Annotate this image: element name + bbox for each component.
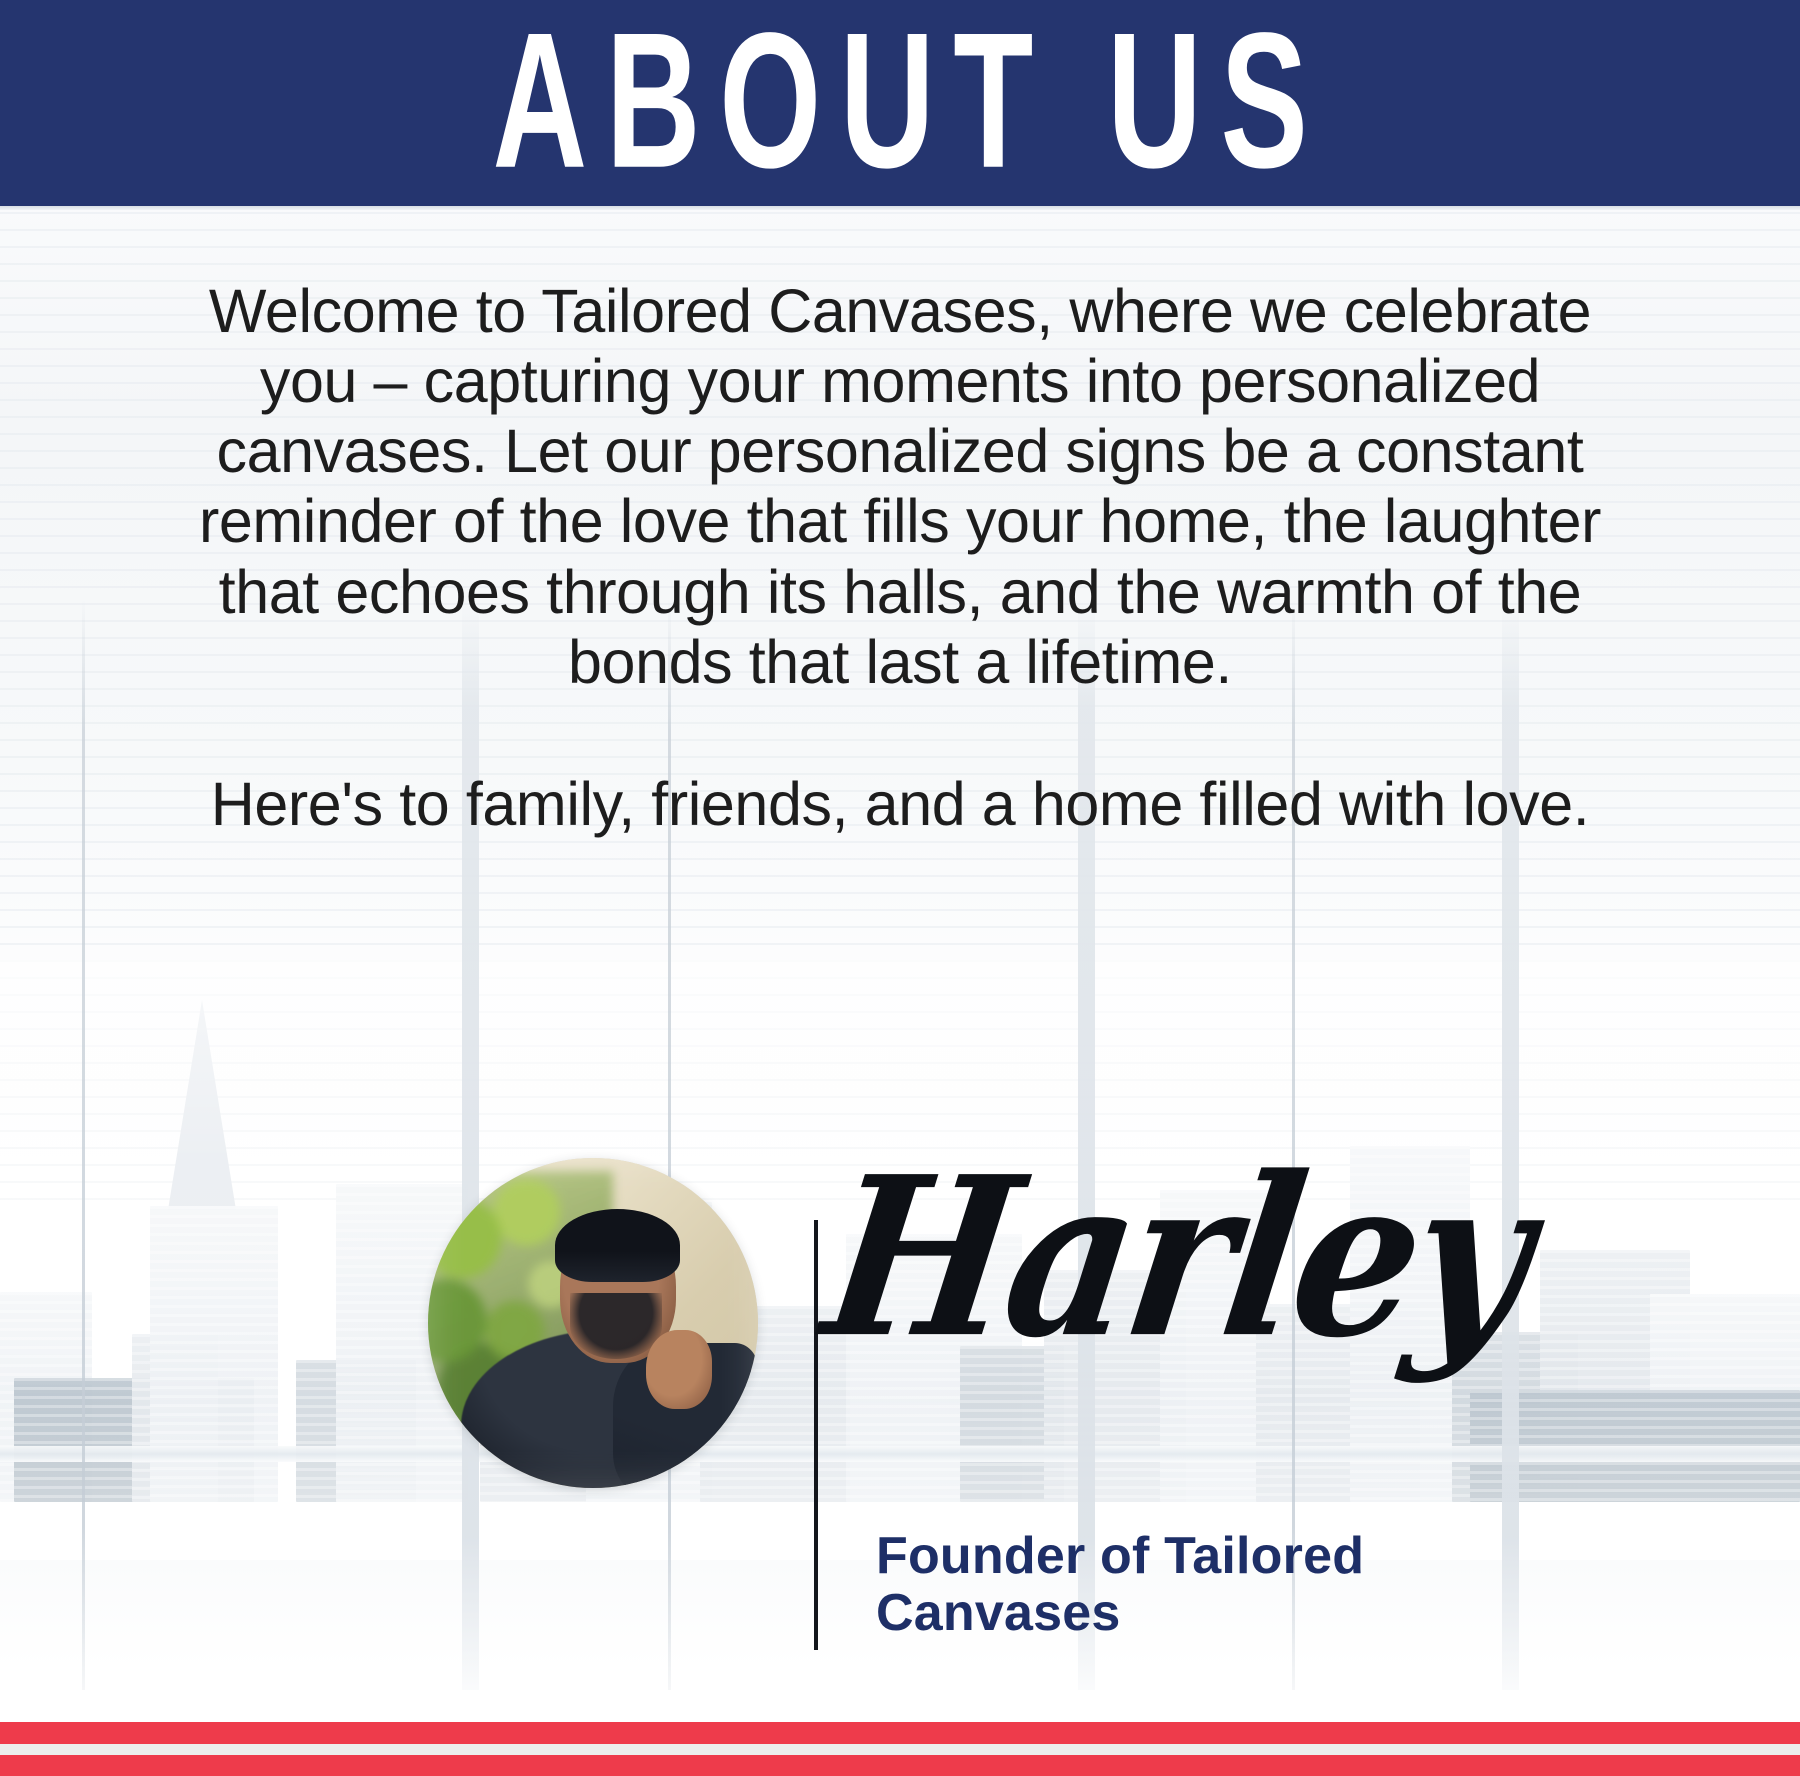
founder-role: Founder of Tailored Canvases <box>876 1528 1496 1642</box>
founder-role-line-1: Founder of Tailored <box>876 1528 1496 1585</box>
about-us-card: ABOUT US Welcome to Tailored Canvases, w… <box>0 0 1800 1776</box>
background-scene <box>0 0 1800 1776</box>
paragraph-spacer <box>190 697 1610 769</box>
footer-stripe-top <box>0 1722 1800 1744</box>
avatar <box>428 1158 758 1488</box>
about-paragraph-1: Welcome to Tailored Canvases, where we c… <box>190 276 1610 697</box>
header-underline <box>0 206 1800 210</box>
signature-divider <box>814 1220 818 1650</box>
about-paragraph-2: Here's to family, friends, and a home fi… <box>190 769 1610 839</box>
header-band: ABOUT US <box>0 0 1800 206</box>
page-title: ABOUT US <box>474 4 1327 197</box>
about-copy: Welcome to Tailored Canvases, where we c… <box>190 276 1610 839</box>
footer-stripe-gap <box>0 1744 1800 1755</box>
founder-signature: Harley <box>815 1148 1546 1368</box>
founder-portrait-image <box>428 1158 758 1488</box>
footer-stripe-bottom <box>0 1755 1800 1776</box>
founder-role-line-2: Canvases <box>876 1585 1496 1642</box>
